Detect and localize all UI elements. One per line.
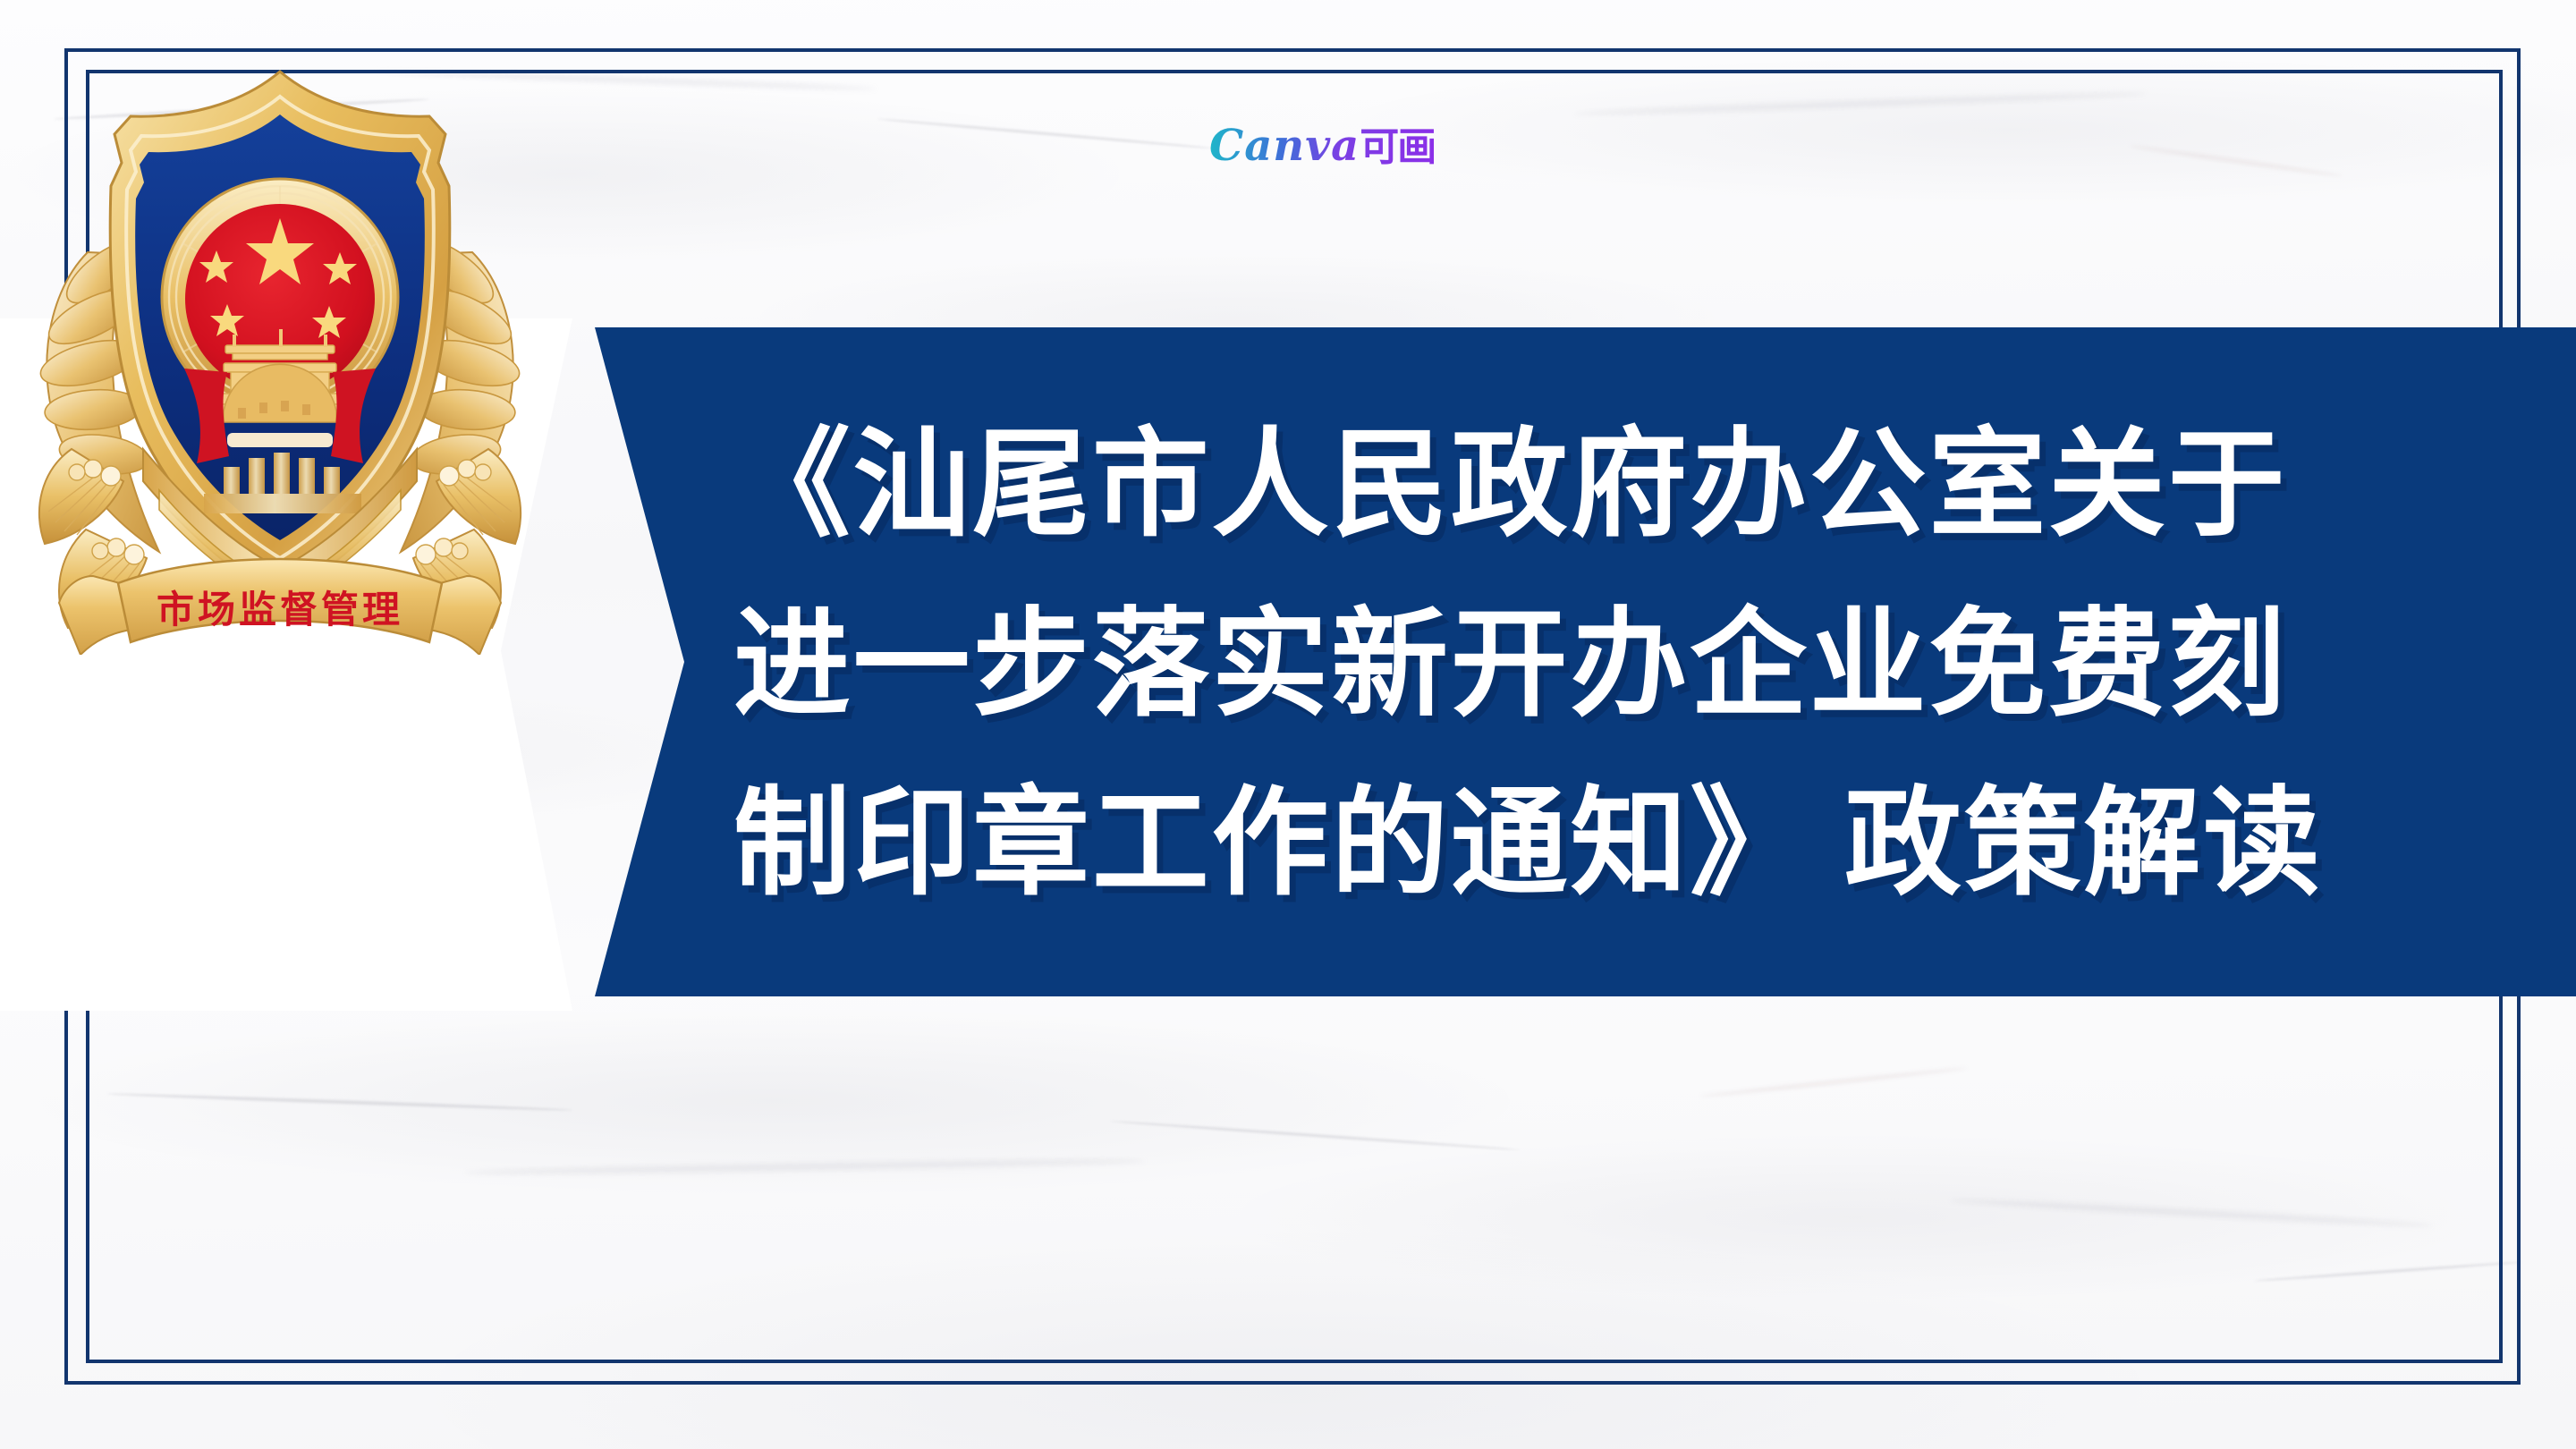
title-line-1: 《汕尾市人民政府办公室关于 (733, 395, 2287, 575)
title-line-2: 进一步落实新开办企业免费刻 (733, 575, 2287, 755)
poster-canvas: 市场监督管理 《汕尾市人民政府办公室关于 进一步落实新开办企业免费刻 制印章工作… (0, 0, 2576, 1449)
emblem-banner-text: 市场监督管理 (157, 588, 403, 631)
market-regulation-emblem-icon: 市场监督管理 (25, 29, 535, 655)
page-title: 《汕尾市人民政府办公室关于 进一步落实新开办企业免费刻 制印章工作的通知》 政策… (733, 356, 2522, 973)
canva-brand-text: Canva (1209, 121, 1360, 171)
title-line-3: 制印章工作的通知》 政策解读 (733, 754, 2323, 934)
canva-watermark: Canva可画 (1209, 114, 1435, 172)
canva-brand-cn-text: 可画 (1360, 124, 1435, 170)
